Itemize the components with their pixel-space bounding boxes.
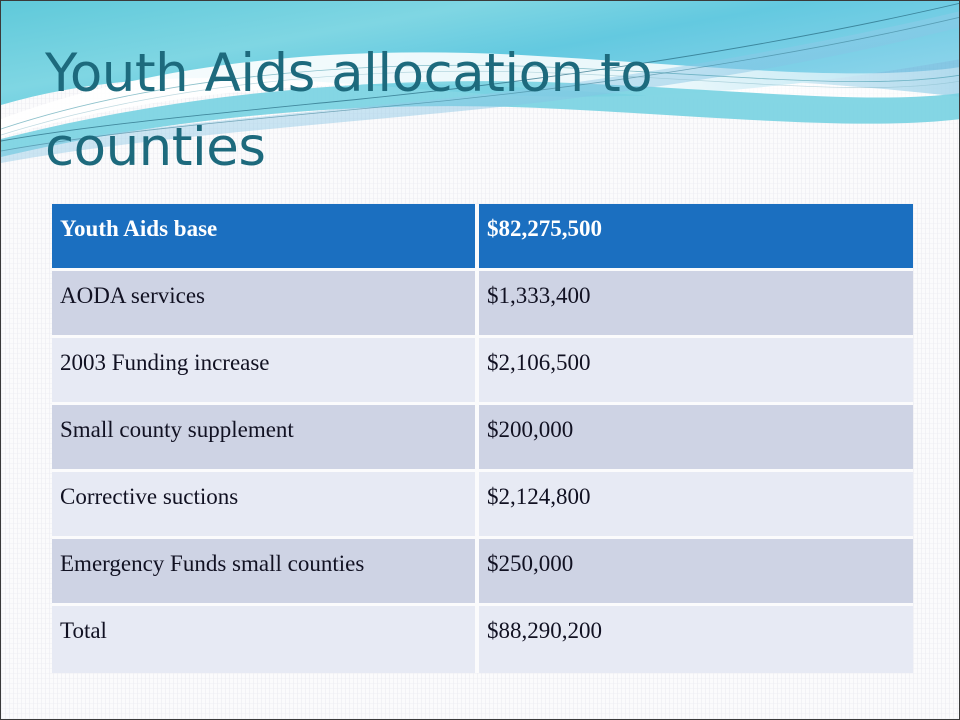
row-label: Corrective suctions bbox=[60, 472, 475, 510]
table-header-value-cell: $82,275,500 bbox=[479, 204, 913, 271]
row-value: $200,000 bbox=[487, 405, 913, 443]
row-label: AODA services bbox=[60, 271, 475, 309]
row-label-cell: Corrective suctions bbox=[52, 472, 479, 539]
row-label: 2003 Funding increase bbox=[60, 338, 475, 376]
row-value-cell: $2,124,800 bbox=[479, 472, 913, 539]
presentation-slide: Youth Aids allocation to counties Youth … bbox=[0, 0, 960, 720]
table-row: Emergency Funds small counties $250,000 bbox=[52, 539, 913, 606]
row-value-cell: $88,290,200 bbox=[479, 606, 913, 673]
row-label-cell: Emergency Funds small counties bbox=[52, 539, 479, 606]
row-label-cell: 2003 Funding increase bbox=[52, 338, 479, 405]
row-value-cell: $250,000 bbox=[479, 539, 913, 606]
row-value-cell: $2,106,500 bbox=[479, 338, 913, 405]
table-header-label: Youth Aids base bbox=[60, 204, 475, 242]
row-label-cell: Small county supplement bbox=[52, 405, 479, 472]
row-value: $2,124,800 bbox=[487, 472, 913, 510]
table-row: Small county supplement $200,000 bbox=[52, 405, 913, 472]
row-value: $2,106,500 bbox=[487, 338, 913, 376]
allocation-table: Youth Aids base $82,275,500 AODA service… bbox=[52, 204, 913, 673]
row-label: Total bbox=[60, 606, 475, 644]
row-label: Emergency Funds small counties bbox=[60, 539, 475, 577]
row-value: $250,000 bbox=[487, 539, 913, 577]
row-value: $88,290,200 bbox=[487, 606, 913, 644]
table-header-row: Youth Aids base $82,275,500 bbox=[52, 204, 913, 271]
table-row-total: Total $88,290,200 bbox=[52, 606, 913, 673]
row-value: $1,333,400 bbox=[487, 271, 913, 309]
allocation-table-container: Youth Aids base $82,275,500 AODA service… bbox=[52, 204, 913, 673]
table-header-value: $82,275,500 bbox=[487, 204, 913, 242]
row-label: Small county supplement bbox=[60, 405, 475, 443]
row-label-cell: Total bbox=[52, 606, 479, 673]
table-header-label-cell: Youth Aids base bbox=[52, 204, 479, 271]
table-row: AODA services $1,333,400 bbox=[52, 271, 913, 338]
table-row: Corrective suctions $2,124,800 bbox=[52, 472, 913, 539]
row-label-cell: AODA services bbox=[52, 271, 479, 338]
slide-title: Youth Aids allocation to counties bbox=[45, 37, 825, 185]
row-value-cell: $200,000 bbox=[479, 405, 913, 472]
row-value-cell: $1,333,400 bbox=[479, 271, 913, 338]
table-row: 2003 Funding increase $2,106,500 bbox=[52, 338, 913, 405]
